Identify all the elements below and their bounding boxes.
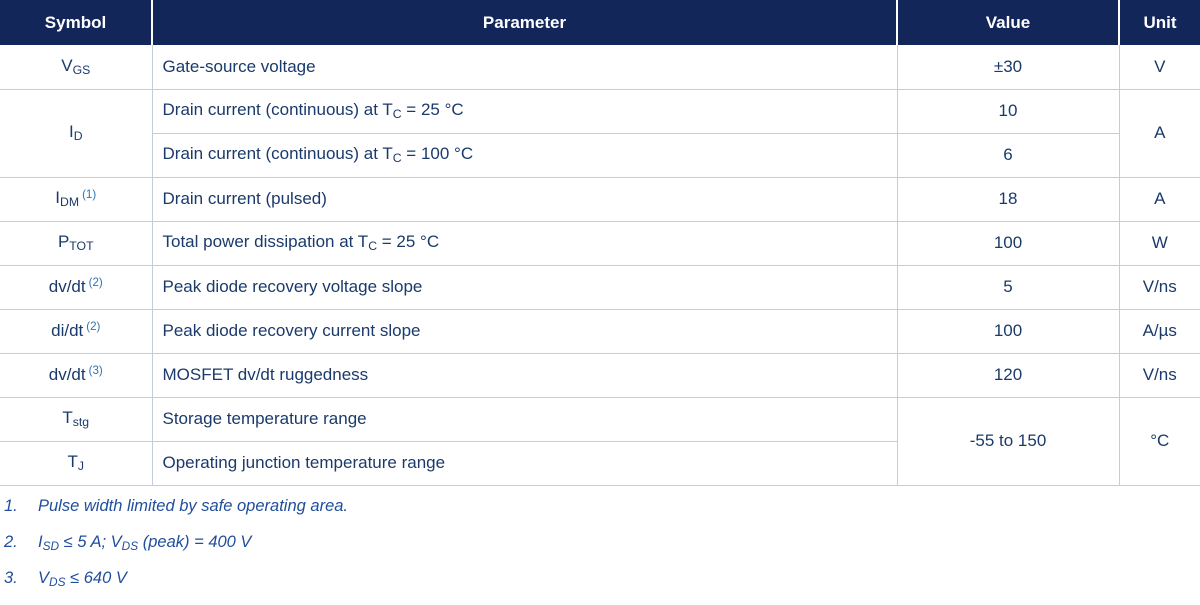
table-row: di/dt(2)Peak diode recovery current slop… xyxy=(0,309,1200,353)
footnote-marker[interactable]: (2) xyxy=(89,277,103,289)
footnote-marker[interactable]: (2) xyxy=(86,321,100,333)
footnote-text: ISD ≤ 5 A; VDS (peak) = 400 V xyxy=(38,533,1200,553)
footnote-item: 1.Pulse width limited by safe operating … xyxy=(4,497,1200,533)
cell-value: 6 xyxy=(897,133,1119,177)
footnote-number: 1. xyxy=(4,497,38,516)
cell-symbol: dv/dt(3) xyxy=(0,353,152,397)
footnotes-list: 1.Pulse width limited by safe operating … xyxy=(0,497,1200,605)
footnote-text: Pulse width limited by safe operating ar… xyxy=(38,497,1200,516)
cell-parameter: Total power dissipation at TC = 25 °C xyxy=(152,221,897,265)
cell-parameter: MOSFET dv/dt ruggedness xyxy=(152,353,897,397)
cell-unit: V xyxy=(1119,45,1200,89)
cell-unit: W xyxy=(1119,221,1200,265)
cell-unit: V/ns xyxy=(1119,353,1200,397)
cell-value: 100 xyxy=(897,309,1119,353)
cell-parameter: Peak diode recovery current slope xyxy=(152,309,897,353)
cell-value: 120 xyxy=(897,353,1119,397)
cell-unit: A xyxy=(1119,177,1200,221)
table-row: dv/dt(3)MOSFET dv/dt ruggedness120V/ns xyxy=(0,353,1200,397)
cell-symbol: di/dt(2) xyxy=(0,309,152,353)
symbol-subscript: J xyxy=(78,460,84,474)
absolute-maximum-ratings-table: Symbol Parameter Value Unit VGSGate-sour… xyxy=(0,0,1200,486)
symbol-subscript: DM xyxy=(60,196,79,210)
table-row: VGSGate-source voltage±30V xyxy=(0,45,1200,89)
footnote-subscript: SD xyxy=(43,538,60,552)
footnote-subscript: DS xyxy=(122,538,139,552)
cell-symbol: dv/dt(2) xyxy=(0,265,152,309)
cell-value: 100 xyxy=(897,221,1119,265)
cell-value: 18 xyxy=(897,177,1119,221)
column-header-value: Value xyxy=(897,0,1119,45)
table-row: TstgStorage temperature range-55 to 150°… xyxy=(0,397,1200,441)
table-row: IDM(1)Drain current (pulsed)18A xyxy=(0,177,1200,221)
absolute-maximum-ratings-page: Symbol Parameter Value Unit VGSGate-sour… xyxy=(0,0,1200,603)
cell-parameter: Drain current (continuous) at TC = 100 °… xyxy=(152,133,897,177)
symbol-subscript: stg xyxy=(73,416,89,430)
cell-symbol: VGS xyxy=(0,45,152,89)
table-row: IDDrain current (continuous) at TC = 25 … xyxy=(0,89,1200,133)
cell-value: ±30 xyxy=(897,45,1119,89)
column-header-parameter: Parameter xyxy=(152,0,897,45)
footnote-marker[interactable]: (1) xyxy=(82,189,96,201)
cell-symbol: TJ xyxy=(0,441,152,485)
symbol-subscript: GS xyxy=(73,63,91,77)
table-row: PTOTTotal power dissipation at TC = 25 °… xyxy=(0,221,1200,265)
cell-parameter: Gate-source voltage xyxy=(152,45,897,89)
cell-unit: A/µs xyxy=(1119,309,1200,353)
cell-parameter: Drain current (continuous) at TC = 25 °C xyxy=(152,89,897,133)
table-row: Drain current (continuous) at TC = 100 °… xyxy=(0,133,1200,177)
cell-unit: A xyxy=(1119,89,1200,177)
footnote-item: 2.ISD ≤ 5 A; VDS (peak) = 400 V xyxy=(4,533,1200,569)
parameter-subscript: C xyxy=(368,240,377,254)
table-body: VGSGate-source voltage±30VIDDrain curren… xyxy=(0,45,1200,485)
cell-unit: V/ns xyxy=(1119,265,1200,309)
cell-symbol: ID xyxy=(0,89,152,177)
cell-symbol: IDM(1) xyxy=(0,177,152,221)
footnote-number: 3. xyxy=(4,569,38,588)
cell-value: 10 xyxy=(897,89,1119,133)
column-header-unit: Unit xyxy=(1119,0,1200,45)
cell-symbol: Tstg xyxy=(0,397,152,441)
footnote-item: 3.VDS ≤ 640 V xyxy=(4,569,1200,605)
footnote-marker[interactable]: (3) xyxy=(89,365,103,377)
cell-symbol: PTOT xyxy=(0,221,152,265)
table-header: Symbol Parameter Value Unit xyxy=(0,0,1200,45)
column-header-symbol: Symbol xyxy=(0,0,152,45)
table-row: dv/dt(2)Peak diode recovery voltage slop… xyxy=(0,265,1200,309)
cell-parameter: Operating junction temperature range xyxy=(152,441,897,485)
footnote-subscript: DS xyxy=(49,574,66,588)
symbol-subscript: TOT xyxy=(69,240,93,254)
cell-parameter: Drain current (pulsed) xyxy=(152,177,897,221)
table-header-row: Symbol Parameter Value Unit xyxy=(0,0,1200,45)
cell-value: 5 xyxy=(897,265,1119,309)
cell-unit: °C xyxy=(1119,397,1200,485)
cell-parameter: Peak diode recovery voltage slope xyxy=(152,265,897,309)
cell-parameter: Storage temperature range xyxy=(152,397,897,441)
parameter-subscript: C xyxy=(393,152,402,166)
symbol-subscript: D xyxy=(74,130,83,144)
footnote-number: 2. xyxy=(4,533,38,552)
cell-value: -55 to 150 xyxy=(897,397,1119,485)
parameter-subscript: C xyxy=(393,108,402,122)
footnote-text: VDS ≤ 640 V xyxy=(38,569,1200,589)
